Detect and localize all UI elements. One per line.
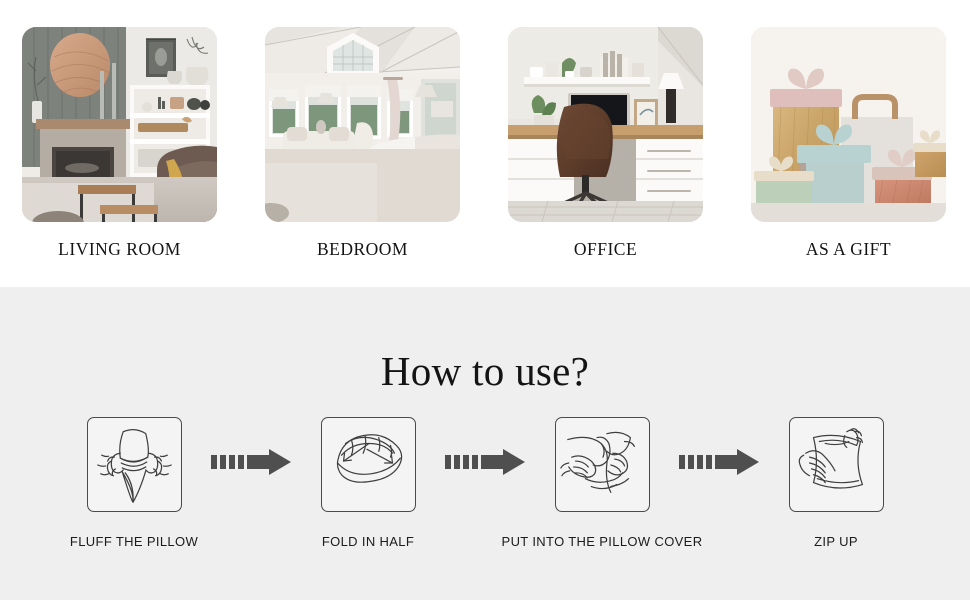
step-label: PUT INTO THE PILLOW COVER	[502, 534, 703, 549]
dashed-right-arrow-icon	[445, 449, 525, 475]
step-label: ZIP UP	[814, 534, 858, 549]
gallery-card-as-a-gift[interactable]: AS A GIFT	[751, 27, 946, 260]
gallery-card-living-room[interactable]: LIVING ROOM	[22, 27, 217, 260]
step-put-into-the-pillow-cover: PUT INTO THE PILLOW COVER	[528, 417, 676, 549]
step-fluff-the-pillow: FLUFF THE PILLOW	[60, 417, 208, 549]
gallery-card-office[interactable]: OFFICE	[508, 27, 703, 260]
hands-inserting-pillow-icon	[555, 417, 650, 512]
step-label: FOLD IN HALF	[322, 534, 414, 549]
hand-zipping-pillow-icon	[789, 417, 884, 512]
dashed-right-arrow-icon	[679, 449, 759, 475]
gallery-card-label: OFFICE	[574, 239, 637, 260]
how-to-use-section: How to use?	[0, 287, 970, 600]
dashed-right-arrow-icon	[211, 449, 291, 475]
folded-pillow-icon	[321, 417, 416, 512]
office-photo	[508, 27, 703, 222]
bedroom-photo	[265, 27, 460, 222]
gallery-card-label: BEDROOM	[317, 239, 408, 260]
usage-gallery-section: LIVING ROOM	[0, 0, 970, 287]
step-zip-up: ZIP UP	[762, 417, 910, 549]
step-label: FLUFF THE PILLOW	[70, 534, 198, 549]
how-to-use-title: How to use?	[0, 347, 970, 395]
gallery-card-row: LIVING ROOM	[0, 27, 970, 260]
gift-boxes-illustration	[751, 27, 946, 222]
hands-fluffing-pillow-icon	[87, 417, 182, 512]
gallery-card-label: LIVING ROOM	[58, 239, 181, 260]
how-to-use-steps: FLUFF THE PILLOW	[60, 417, 910, 549]
product-detail-page: LIVING ROOM	[0, 0, 970, 600]
gallery-card-bedroom[interactable]: BEDROOM	[265, 27, 460, 260]
living-room-photo	[22, 27, 217, 222]
gallery-card-label: AS A GIFT	[806, 239, 891, 260]
step-fold-in-half: FOLD IN HALF	[294, 417, 442, 549]
